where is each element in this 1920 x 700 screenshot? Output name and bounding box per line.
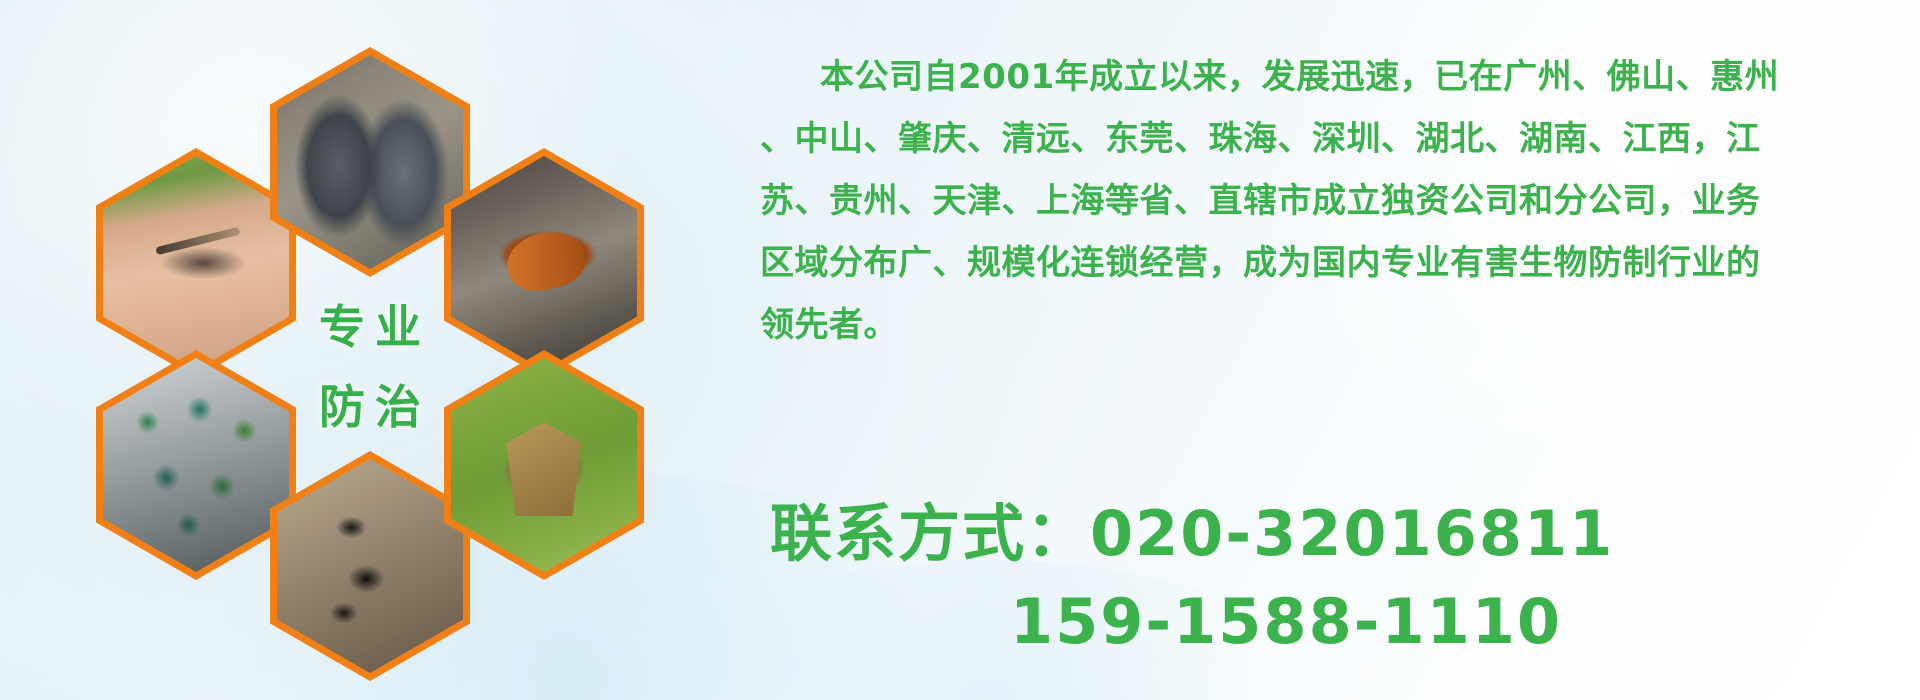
flies-icon — [103, 358, 289, 572]
mosquito-icon — [103, 156, 289, 370]
hex-inner-slogan: 专业 防治 — [277, 257, 463, 471]
description-line-2: 、中山、肇庆、清远、东莞、珠海、深圳、湖北、湖南、江西，江 — [760, 108, 1870, 170]
description-line-5: 领先者。 — [760, 294, 1870, 356]
hex-inner-cockroach — [451, 156, 637, 370]
slogan-line-1: 专业 — [309, 291, 431, 357]
hex-inner-flies — [103, 358, 289, 572]
hex-inner-ants — [277, 459, 463, 673]
description-line-1: 本公司自2001年成立以来，发展迅速，已在广州、佛山、惠州 — [760, 46, 1870, 108]
contact-phone-landline[interactable]: 联系方式：020-32016811 — [770, 490, 1890, 578]
hex-inner-stinkbug — [451, 358, 637, 572]
rats-icon — [277, 55, 463, 269]
promo-banner: 专业 防治 本公司自2001年成立以来，发展迅速，已在广州、佛山、惠州 、中山、… — [0, 0, 1920, 700]
company-description: 本公司自2001年成立以来，发展迅速，已在广州、佛山、惠州 、中山、肇庆、清远、… — [760, 46, 1870, 356]
description-line-4: 区域分布广、规模化连锁经营，成为国内专业有害生物防制行业的 — [760, 232, 1870, 294]
slogan-line-2: 防治 — [309, 371, 431, 437]
hex-cell-ants — [270, 451, 470, 681]
hex-inner-mosquito — [103, 156, 289, 370]
hex-cell-mosquito — [96, 148, 296, 378]
hexagon-photo-cluster: 专业 防治 — [96, 10, 696, 690]
hex-inner-rats — [277, 55, 463, 269]
ants-icon — [277, 459, 463, 673]
slogan-text: 专业 防治 — [277, 257, 463, 471]
hex-cell-cockroach — [444, 148, 644, 378]
hex-cell-stinkbug — [444, 350, 644, 580]
hex-cell-slogan: 专业 防治 — [270, 249, 470, 479]
contact-phone-mobile[interactable]: 159-1588-1110 — [770, 578, 1890, 666]
description-line-3: 苏、贵州、天津、上海等省、直辖市成立独资公司和分公司，业务 — [760, 170, 1870, 232]
hex-cell-flies — [96, 350, 296, 580]
cockroach-icon — [451, 156, 637, 370]
stinkbug-icon — [451, 358, 637, 572]
hex-cell-rats — [270, 47, 470, 277]
contact-block: 联系方式：020-32016811 159-1588-1110 — [770, 490, 1890, 666]
